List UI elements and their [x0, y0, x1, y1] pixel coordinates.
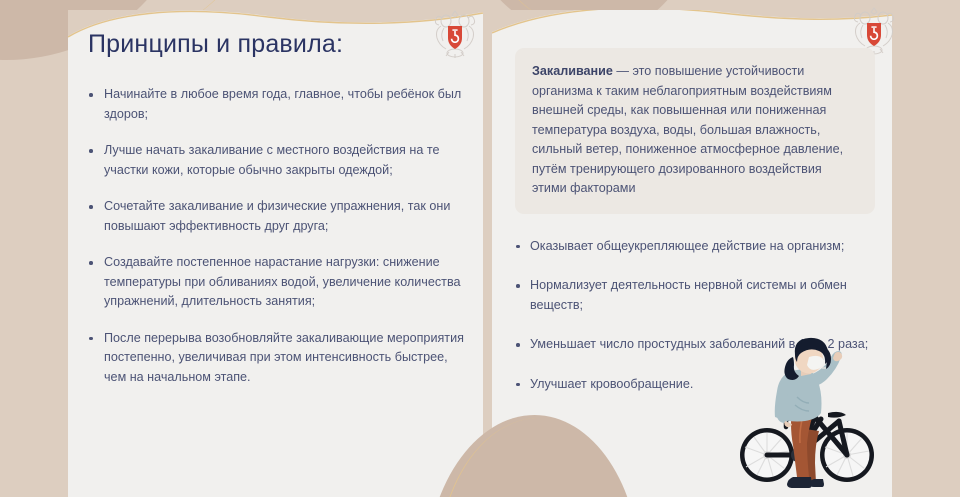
- definition-callout-box: Закаливание — это повышение устойчивости…: [515, 48, 875, 214]
- left-panel-content: Принципы и правила: Начинайте в любое вр…: [88, 30, 478, 404]
- list-item: Начинайте в любое время года, главное, ч…: [88, 85, 468, 124]
- list-item: После перерыва возобновляйте закаливающи…: [88, 329, 468, 388]
- definition-term: Закаливание: [532, 64, 613, 78]
- woman-with-bicycle-illustration: [735, 337, 880, 497]
- slide-canvas: Принципы и правила: Начинайте в любое вр…: [0, 0, 960, 497]
- definition-text: Закаливание — это повышение устойчивости…: [532, 62, 858, 199]
- right-panel-top-curve: [492, 10, 892, 50]
- definition-body: — это повышение устойчивости организма к…: [532, 64, 843, 195]
- list-item: Лучше начать закаливание с местного возд…: [88, 141, 468, 180]
- page-title: Принципы и правила:: [88, 30, 478, 59]
- list-item: Сочетайте закаливание и физические упраж…: [88, 197, 468, 236]
- list-item: Нормализует деятельность нервной системы…: [515, 276, 875, 315]
- principles-list: Начинайте в любое время года, главное, ч…: [88, 85, 478, 387]
- list-item: Создавайте постепенное нарастание нагруз…: [88, 253, 468, 312]
- list-item: Оказывает общеукрепляющее действие на ор…: [515, 237, 875, 257]
